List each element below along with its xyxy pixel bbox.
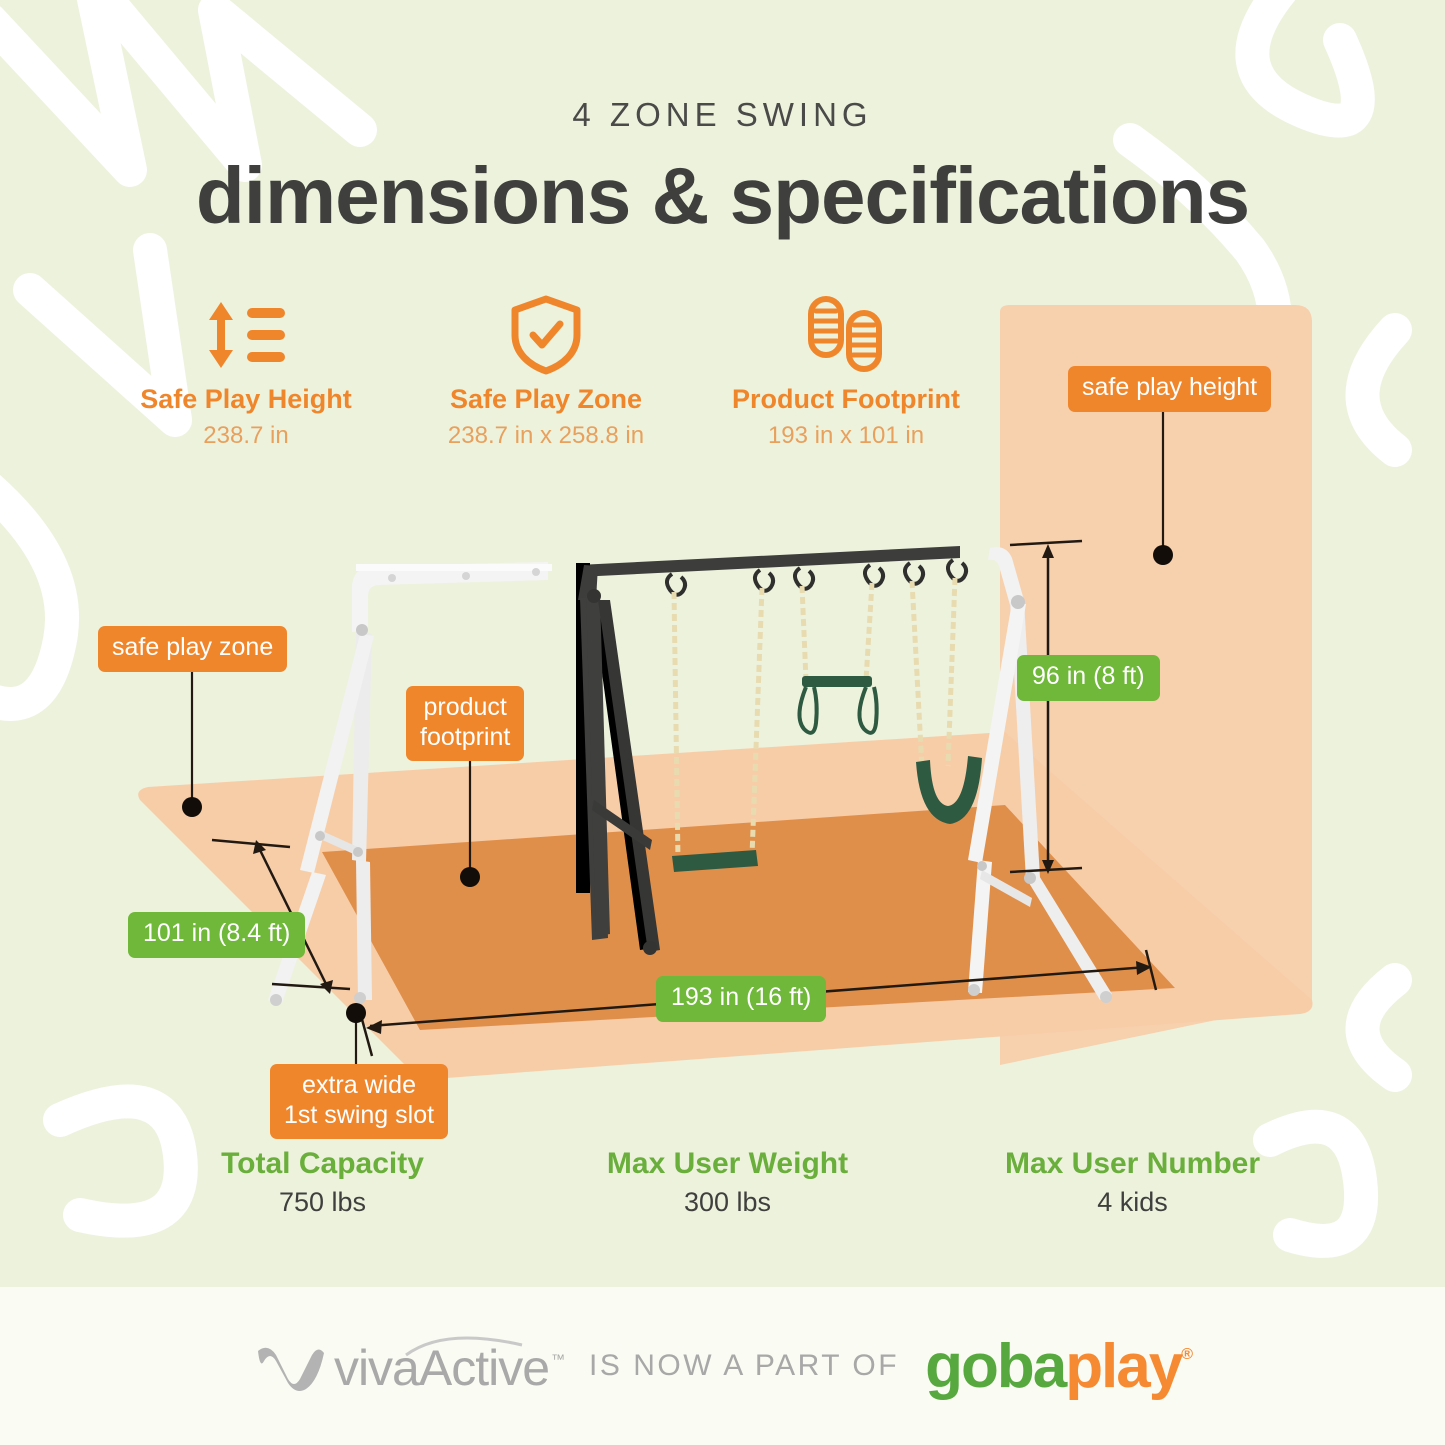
callout-text-line1: product: [420, 693, 510, 723]
gobaplay-play: play: [1065, 1332, 1181, 1401]
dimension-text: 101 in (8.4 ft): [143, 919, 290, 947]
spec-value: 238.7 in: [96, 422, 396, 450]
vivaactive-swoosh-icon: [404, 1331, 524, 1357]
height-arrows-icon: [96, 296, 396, 374]
spec-item-safe-play-height: Safe Play Height 238.7 in: [96, 296, 396, 450]
callout-text: safe play zone: [112, 633, 273, 661]
stat-title: Max User Number: [930, 1147, 1335, 1181]
dimension-text: 96 in (8 ft): [1032, 662, 1145, 690]
stat-value: 750 lbs: [120, 1187, 525, 1218]
page-title: dimensions & specifications: [0, 150, 1445, 242]
infographic-page: 4 ZONE SWING dimensions & specifications…: [0, 0, 1445, 1445]
registered-symbol: ®: [1181, 1346, 1191, 1363]
gobaplay-logo: gobaplay®: [925, 1331, 1191, 1402]
spec-value: 238.7 in x 258.8 in: [396, 422, 696, 450]
footer-middle-text: IS NOW A PART OF: [589, 1349, 899, 1383]
stat-max-user-number: Max User Number 4 kids: [930, 1147, 1335, 1218]
callout-text-line2: 1st swing slot: [284, 1101, 434, 1131]
trapeze-bar: [799, 676, 876, 733]
dimension-badge-width: 193 in (16 ft): [656, 976, 826, 1022]
stats-row: Total Capacity 750 lbs Max User Weight 3…: [120, 1147, 1335, 1218]
footer-brand-bar: vivaActive ™ IS NOW A PART OF gobaplay®: [0, 1287, 1445, 1445]
stat-max-user-weight: Max User Weight 300 lbs: [525, 1147, 930, 1218]
vivaactive-logo: vivaActive ™: [254, 1335, 563, 1397]
shield-check-icon: [396, 296, 696, 374]
trademark-symbol: ™: [551, 1351, 565, 1367]
gobaplay-goba: goba: [925, 1332, 1065, 1401]
product-kicker: 4 ZONE SWING: [0, 96, 1445, 134]
vivaactive-mark-icon: [254, 1335, 326, 1397]
stat-value: 300 lbs: [525, 1187, 930, 1218]
spec-item-product-footprint: Product Footprint 193 in x 101 in: [696, 296, 996, 450]
spec-title: Safe Play Zone: [396, 384, 696, 415]
footprints-icon: [696, 296, 996, 374]
stat-title: Total Capacity: [120, 1147, 525, 1181]
callout-text: safe play height: [1082, 373, 1257, 401]
callout-product-footprint: product footprint: [406, 686, 524, 761]
stat-title: Max User Weight: [525, 1147, 930, 1181]
dimension-badge-height: 96 in (8 ft): [1017, 655, 1160, 701]
stat-value: 4 kids: [930, 1187, 1335, 1218]
callout-text-line1: extra wide: [284, 1071, 434, 1101]
callout-safe-play-zone: safe play zone: [98, 626, 287, 672]
spec-item-safe-play-zone: Safe Play Zone 238.7 in x 258.8 in: [396, 296, 696, 450]
callout-extra-wide-swing-slot: extra wide 1st swing slot: [270, 1064, 448, 1139]
dimension-text: 193 in (16 ft): [671, 983, 811, 1011]
page-header: 4 ZONE SWING dimensions & specifications: [0, 96, 1445, 242]
spec-title: Safe Play Height: [96, 384, 396, 415]
spec-summary-row: Safe Play Height 238.7 in Safe Play Zone…: [96, 296, 996, 450]
callout-text-line2: footprint: [420, 723, 510, 753]
callout-safe-play-height: safe play height: [1068, 366, 1271, 412]
dimension-badge-depth: 101 in (8.4 ft): [128, 912, 305, 958]
stat-total-capacity: Total Capacity 750 lbs: [120, 1147, 525, 1218]
spec-title: Product Footprint: [696, 384, 996, 415]
spec-value: 193 in x 101 in: [696, 422, 996, 450]
